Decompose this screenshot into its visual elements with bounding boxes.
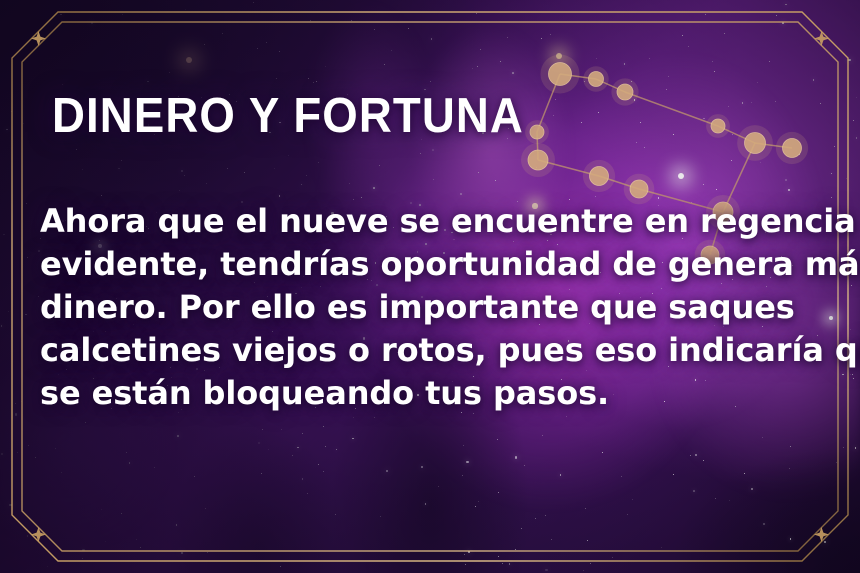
page-title: DINERO Y FORTUNA [52,92,524,141]
body-line: calcetines viejos o rotos, pues eso indi… [40,329,830,372]
horoscope-card: DINERO Y FORTUNA Ahora que el nueve se e… [0,0,860,573]
card-content: DINERO Y FORTUNA Ahora que el nueve se e… [0,0,860,573]
body-line: dinero. Por ello es importante que saque… [40,286,830,329]
body-line: se están bloqueando tus pasos. [40,372,830,415]
horoscope-body-text: Ahora que el nueve se encuentre en regen… [40,200,830,415]
body-line: Ahora que el nueve se encuentre en regen… [40,200,830,243]
body-line: evidente, tendrías oportunidad de genera… [40,243,830,286]
